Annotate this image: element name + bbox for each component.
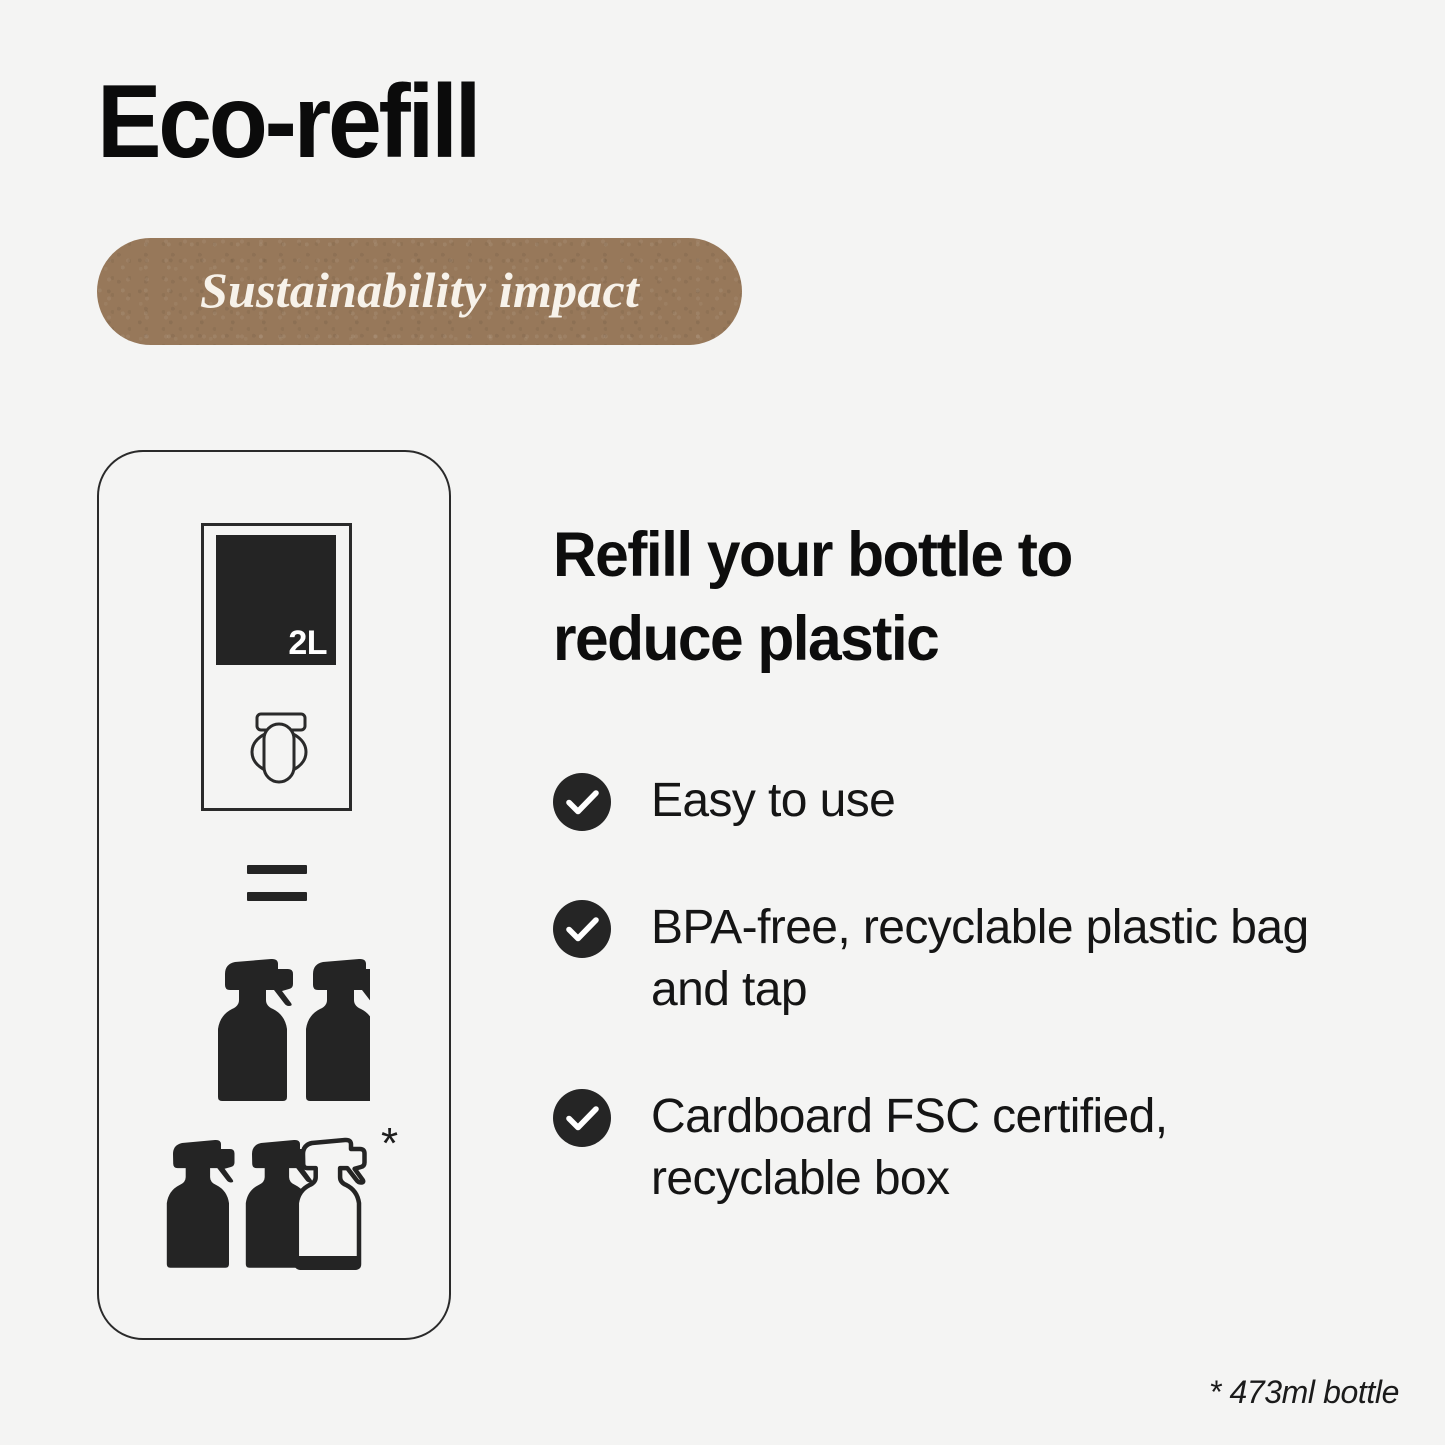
bottle-fill-level <box>285 1256 370 1293</box>
list-item: Cardboard FSC certified, recyclable box <box>553 1086 1383 1209</box>
box-liquid-fill: 2L <box>216 535 336 665</box>
equals-bar-bottom <box>247 892 307 901</box>
box-volume-label: 2L <box>288 626 327 660</box>
spray-bottles-row-bottom <box>155 1128 370 1293</box>
check-icon <box>553 773 611 831</box>
page-title: Eco-refill <box>97 68 478 177</box>
list-item: Easy to use <box>553 770 1383 831</box>
feature-label: BPA-free, recyclable plastic bag and tap <box>651 897 1381 1020</box>
feature-label: Easy to use <box>651 770 895 831</box>
asterisk-marker: * <box>381 1122 398 1166</box>
section-headline: Refill your bottle to reduce plastic <box>553 514 1244 682</box>
spray-bottle-icon <box>167 1140 235 1268</box>
equals-bar-top <box>247 865 307 874</box>
badge-label: Sustainability impact <box>200 261 639 319</box>
check-icon <box>553 1089 611 1147</box>
check-icon <box>553 900 611 958</box>
spray-bottle-icon <box>218 959 293 1101</box>
infographic-canvas: Eco-refill Sustainability impact 2L <box>0 0 1445 1445</box>
footnote: * 473ml bottle <box>1209 1374 1399 1411</box>
sustainability-badge: Sustainability impact <box>97 238 742 345</box>
spray-bottles-row-top <box>200 946 370 1106</box>
feature-label: Cardboard FSC certified, recyclable box <box>651 1086 1381 1209</box>
equals-icon <box>247 865 307 901</box>
feature-list: Easy to use BPA-free, recyclable plastic… <box>553 770 1383 1209</box>
list-item: BPA-free, recyclable plastic bag and tap <box>553 897 1383 1020</box>
spray-bottle-icon <box>306 959 370 1101</box>
tap-icon <box>233 700 325 792</box>
